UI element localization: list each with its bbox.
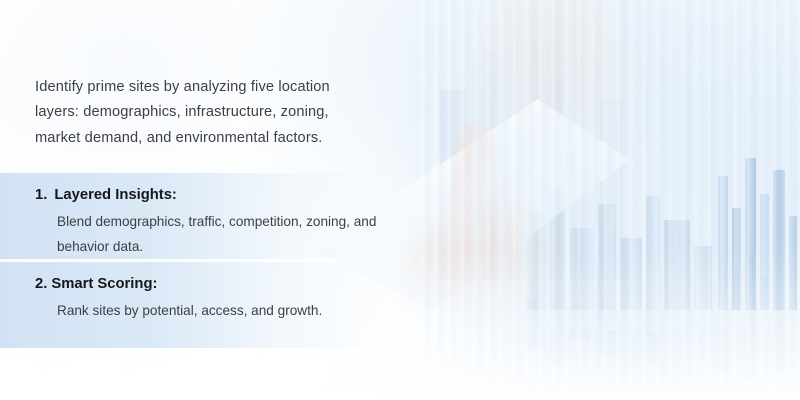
list-item: 1. Layered Insights: Blend demographics,… [0, 173, 455, 259]
list-item-1-content: 1. Layered Insights: Blend demographics,… [35, 185, 395, 259]
list-item-1-heading: Layered Insights: [54, 185, 177, 206]
list-item-2-heading: Smart Scoring: [51, 274, 157, 295]
list-item: 2. Smart Scoring: Rank sites by potentia… [0, 262, 455, 348]
infographic-canvas: Identify prime sites by analyzing five l… [0, 0, 800, 400]
list-item-2-content: 2. Smart Scoring: Rank sites by potentia… [35, 274, 395, 323]
content-area: Identify prime sites by analyzing five l… [0, 0, 800, 400]
list-item-1-heading-row: 1. Layered Insights: [35, 185, 395, 206]
list-item-2-description: Rank sites by potential, access, and gro… [57, 298, 395, 323]
list-item-1-description: Blend demographics, traffic, competition… [57, 209, 395, 259]
list-item-2-number: 2. [35, 274, 47, 295]
list-item-2-heading-row: 2. Smart Scoring: [35, 274, 395, 295]
intro-paragraph: Identify prime sites by analyzing five l… [35, 75, 365, 152]
list-item-1-number: 1. [35, 185, 47, 206]
